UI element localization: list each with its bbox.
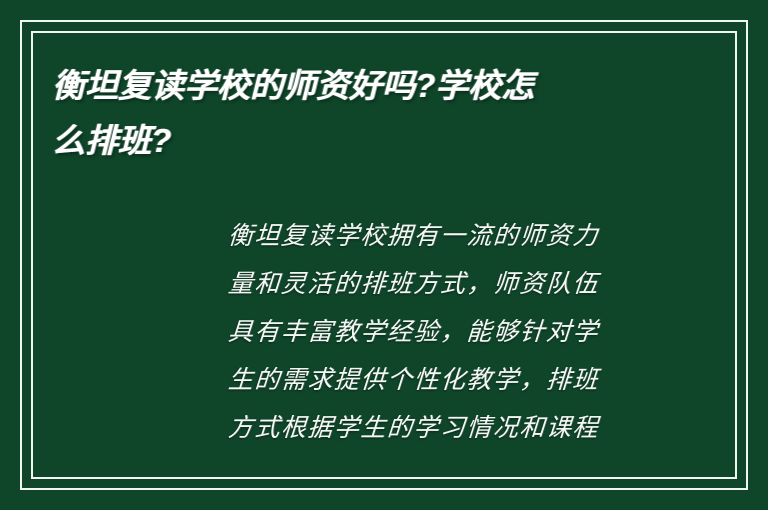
poster-card: 衡坦复读学校的师资好吗?学校怎 么排班? 衡坦复读学校拥有一流的师资力 量和灵活… xyxy=(0,0,768,510)
body-line-4: 生的需求提供个性化教学，排班 xyxy=(226,356,653,404)
body-line-5: 方式根据学生的学习情况和课程 xyxy=(226,404,653,452)
body-line-2: 量和灵活的排班方式，师资队伍 xyxy=(226,260,653,308)
page-title: 衡坦复读学校的师资好吗?学校怎 么排班? xyxy=(52,58,692,168)
body-line-3: 具有丰富教学经验，能够针对学 xyxy=(226,308,653,356)
title-line-2: 么排班? xyxy=(52,113,692,168)
title-line-1: 衡坦复读学校的师资好吗?学校怎 xyxy=(52,58,692,113)
body-line-1: 衡坦复读学校拥有一流的师资力 xyxy=(226,212,653,260)
body-paragraph: 衡坦复读学校拥有一流的师资力 量和灵活的排班方式，师资队伍 具有丰富教学经验，能… xyxy=(228,212,652,452)
